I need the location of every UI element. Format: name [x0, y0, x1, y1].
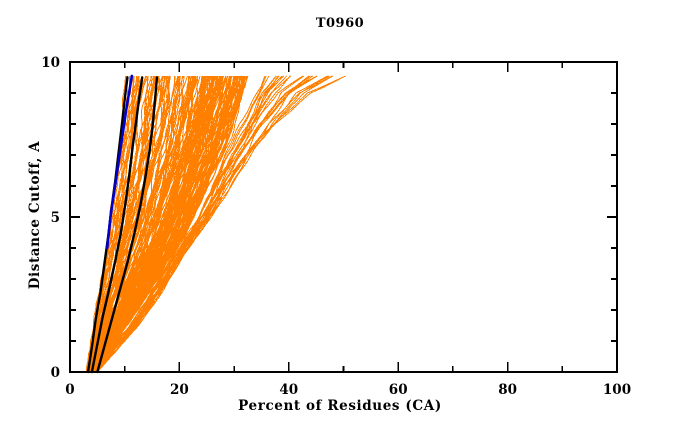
x-tick-label: 100 — [603, 382, 631, 398]
plot-canvas: 0204060801000510 — [0, 0, 680, 440]
x-tick-label: 40 — [279, 382, 298, 398]
y-tick-label: 10 — [41, 55, 60, 71]
y-tick-label: 0 — [51, 365, 60, 381]
x-tick-label: 0 — [65, 382, 74, 398]
x-tick-label: 60 — [389, 382, 408, 398]
x-tick-label: 20 — [170, 382, 189, 398]
chart-figure: T0960 Distance Cutoff, A Percent of Resi… — [0, 0, 680, 440]
curves-layer — [86, 76, 345, 372]
x-tick-label: 80 — [498, 382, 517, 398]
y-tick-label: 5 — [51, 210, 60, 226]
